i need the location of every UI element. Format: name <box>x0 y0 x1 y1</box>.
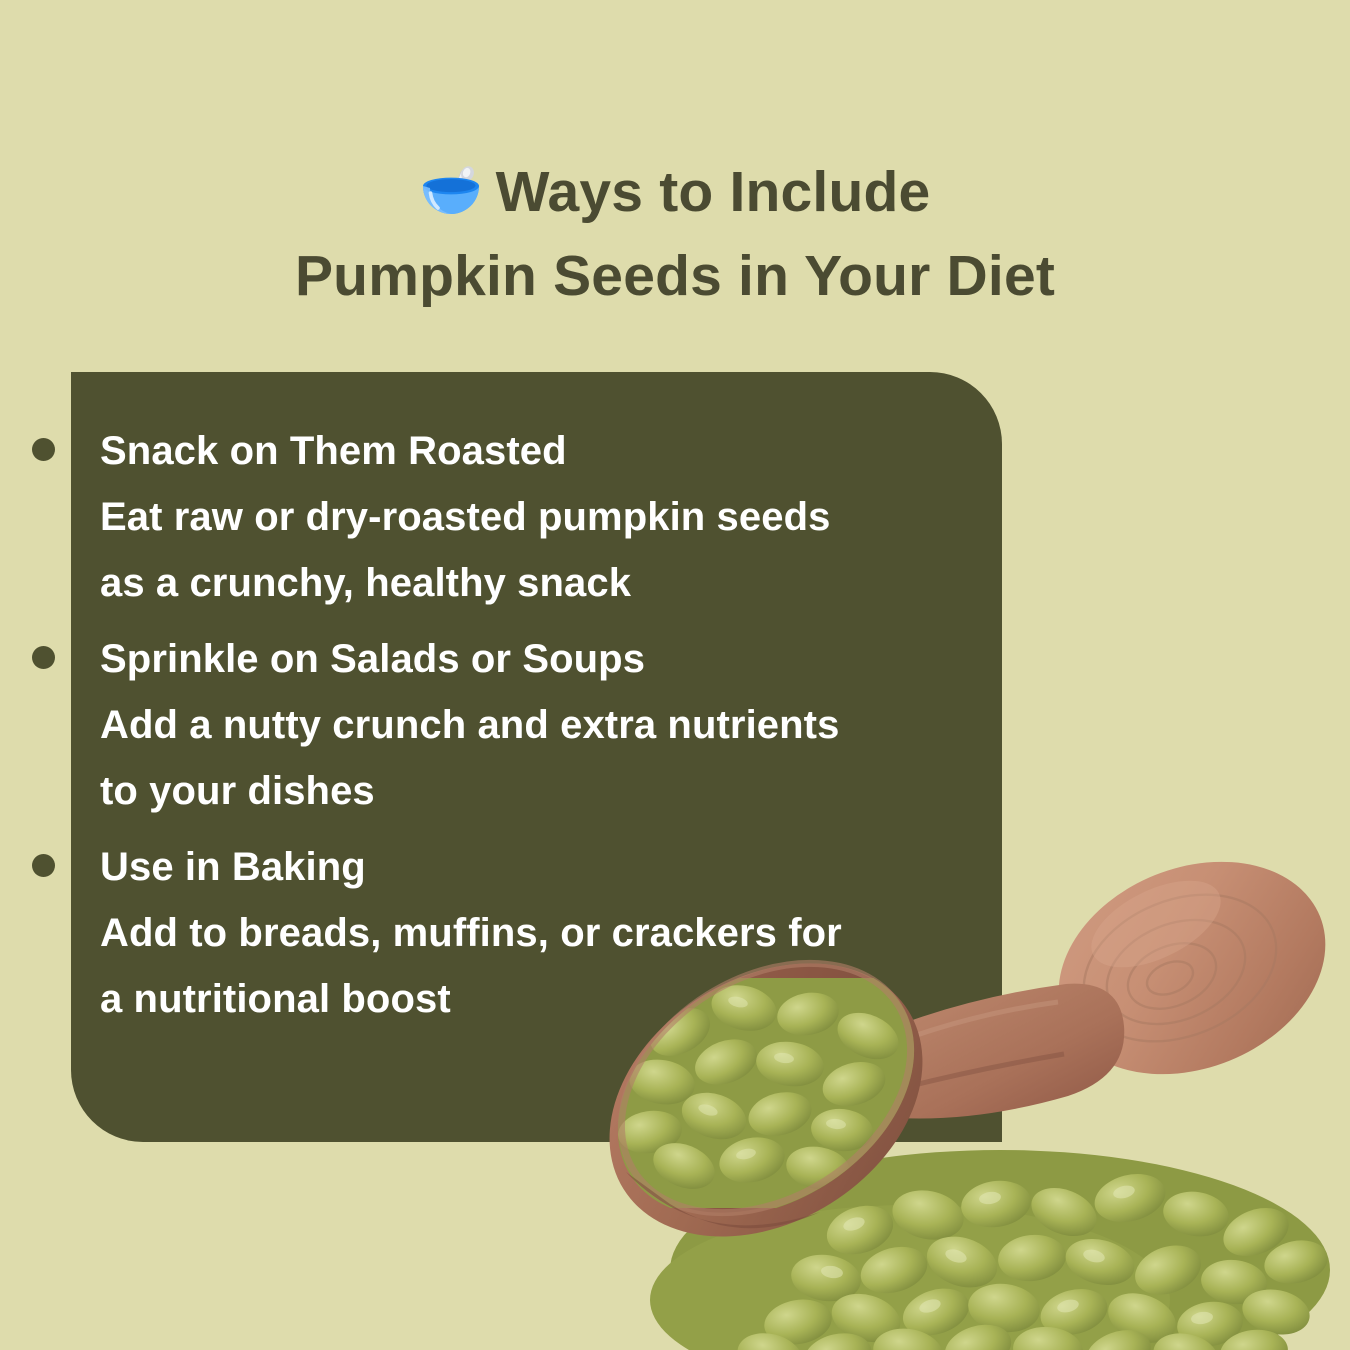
list-item-description-line-1: Add a nutty crunch and extra nutrients <box>100 692 1002 758</box>
list-item: Snack on Them Roasted Eat raw or dry-roa… <box>0 418 1002 616</box>
list-item-heading: Use in Baking <box>100 834 1002 900</box>
poster-canvas: Ways to Include Pumpkin Seeds in Your Di… <box>0 0 1350 1350</box>
list-item-description-line-2: a nutritional boost <box>100 966 1002 1032</box>
seed-pile <box>650 1150 1332 1350</box>
bullet-dot-icon <box>32 438 55 461</box>
list-item-heading: Snack on Them Roasted <box>100 418 1002 484</box>
scoop-handle <box>1027 824 1350 1113</box>
list-item-description-line-2: as a crunchy, healthy snack <box>100 550 1002 616</box>
title-line-1: Ways to Include <box>0 150 1350 234</box>
title-text-line-1: Ways to Include <box>496 160 931 224</box>
page-title: Ways to Include Pumpkin Seeds in Your Di… <box>0 150 1350 318</box>
bowl-with-spoon-icon <box>420 160 482 216</box>
bullet-dot-icon <box>32 854 55 877</box>
title-line-2: Pumpkin Seeds in Your Diet <box>0 234 1350 318</box>
list-item-description-line-1: Add to breads, muffins, or crackers for <box>100 900 1002 966</box>
list-item-heading: Sprinkle on Salads or Soups <box>100 626 1002 692</box>
list-item-description-line-1: Eat raw or dry-roasted pumpkin seeds <box>100 484 1002 550</box>
tips-list: Snack on Them Roasted Eat raw or dry-roa… <box>0 372 1002 1042</box>
list-item: Sprinkle on Salads or Soups Add a nutty … <box>0 626 1002 824</box>
list-item: Use in Baking Add to breads, muffins, or… <box>0 834 1002 1032</box>
list-item-description-line-2: to your dishes <box>100 758 1002 824</box>
bullet-dot-icon <box>32 646 55 669</box>
